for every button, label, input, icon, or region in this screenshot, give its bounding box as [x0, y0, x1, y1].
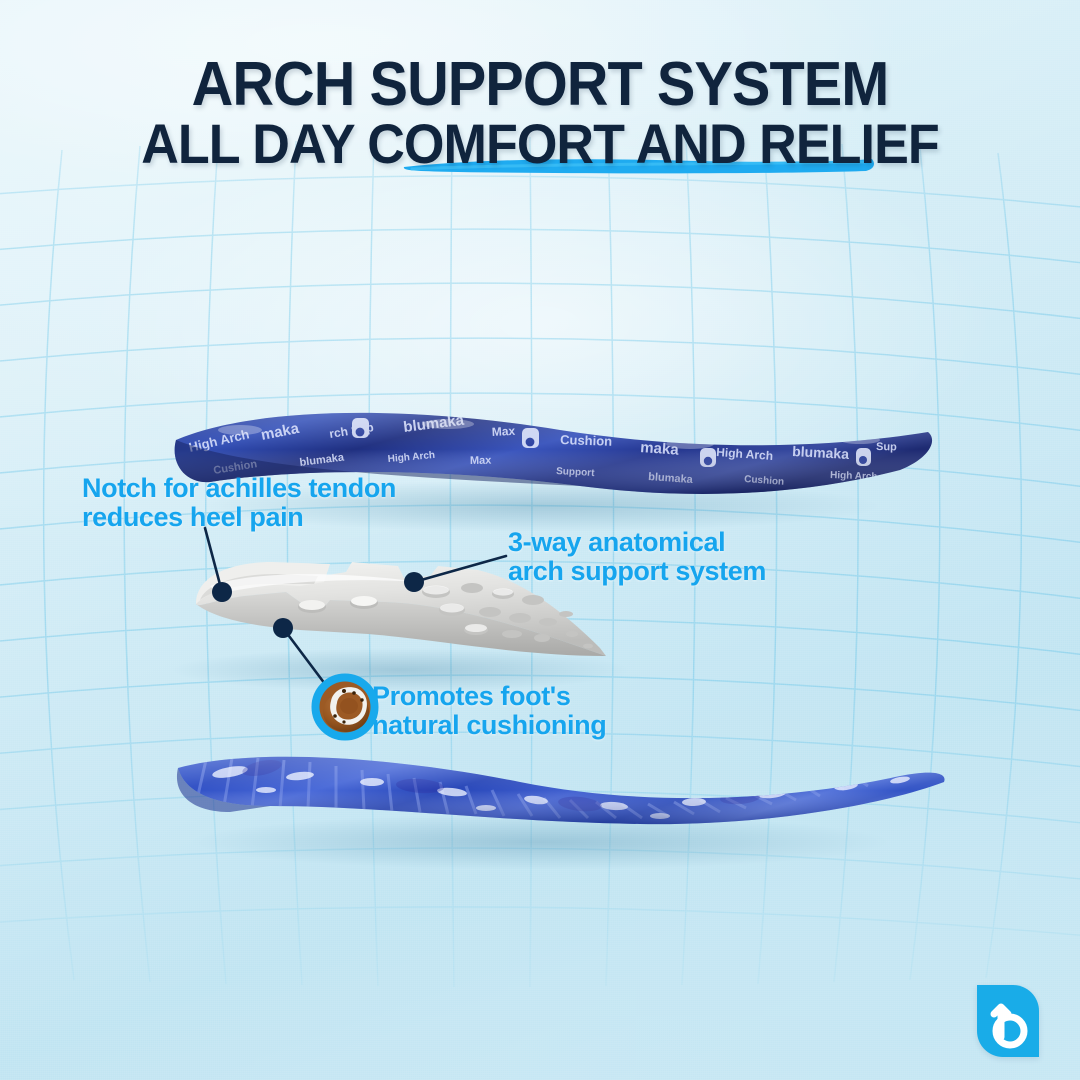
insole-base-foam: [177, 757, 945, 824]
callout-notch: Notch for achilles tendon reduces heel p…: [82, 474, 396, 531]
coconut-icon: [311, 673, 379, 741]
infographic-canvas: ARCH SUPPORT SYSTEM ALL DAY COMFORT AND …: [0, 0, 1080, 1080]
blumaka-logo[interactable]: [977, 985, 1039, 1057]
callout-arch: 3-way anatomical arch support system: [508, 528, 766, 585]
callout-arch-label: 3-way anatomical arch support system: [508, 528, 766, 585]
logo-b-arrow-icon: [977, 985, 1039, 1057]
callout-cushion: Promotes foot's natural cushioning: [372, 682, 606, 739]
callout-cushion-label: Promotes foot's natural cushioning: [372, 682, 606, 739]
headline-underline: [398, 152, 880, 174]
callout-notch-label: Notch for achilles tendon reduces heel p…: [82, 474, 396, 531]
